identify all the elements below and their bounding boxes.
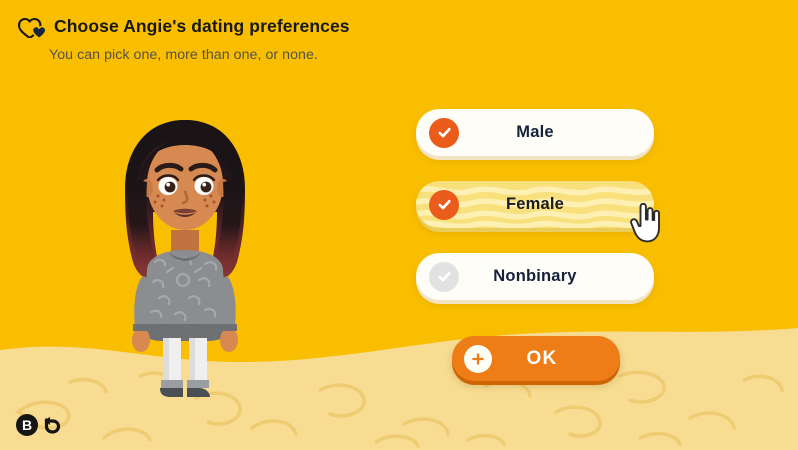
double-heart-icon — [18, 16, 45, 38]
checkbox-female[interactable] — [429, 190, 459, 220]
checkbox-nonbinary[interactable] — [429, 262, 459, 292]
preference-options-list: Male Female — [416, 109, 656, 325]
character-avatar — [95, 112, 275, 400]
back-arrow-icon[interactable] — [40, 414, 62, 436]
ok-button[interactable]: OK — [452, 336, 620, 381]
option-male[interactable]: Male — [416, 109, 654, 156]
bottom-left-controls: B — [16, 414, 62, 436]
option-nonbinary[interactable]: Nonbinary — [416, 253, 654, 300]
page-subtitle: You can pick one, more than one, or none… — [49, 47, 538, 63]
b-button-label: B — [22, 418, 32, 432]
header: Choose Angie's dating preferences You ca… — [18, 16, 538, 63]
checkbox-male[interactable] — [429, 118, 459, 148]
b-button-icon[interactable]: B — [16, 414, 38, 436]
game-screen: Choose Angie's dating preferences You ca… — [0, 0, 798, 450]
option-female[interactable]: Female — [416, 181, 654, 228]
check-icon — [436, 124, 453, 141]
page-title: Choose Angie's dating preferences — [54, 18, 350, 36]
check-icon — [436, 196, 453, 213]
plus-circle-icon — [464, 345, 492, 373]
check-icon — [436, 268, 453, 285]
title-row: Choose Angie's dating preferences — [18, 16, 538, 38]
